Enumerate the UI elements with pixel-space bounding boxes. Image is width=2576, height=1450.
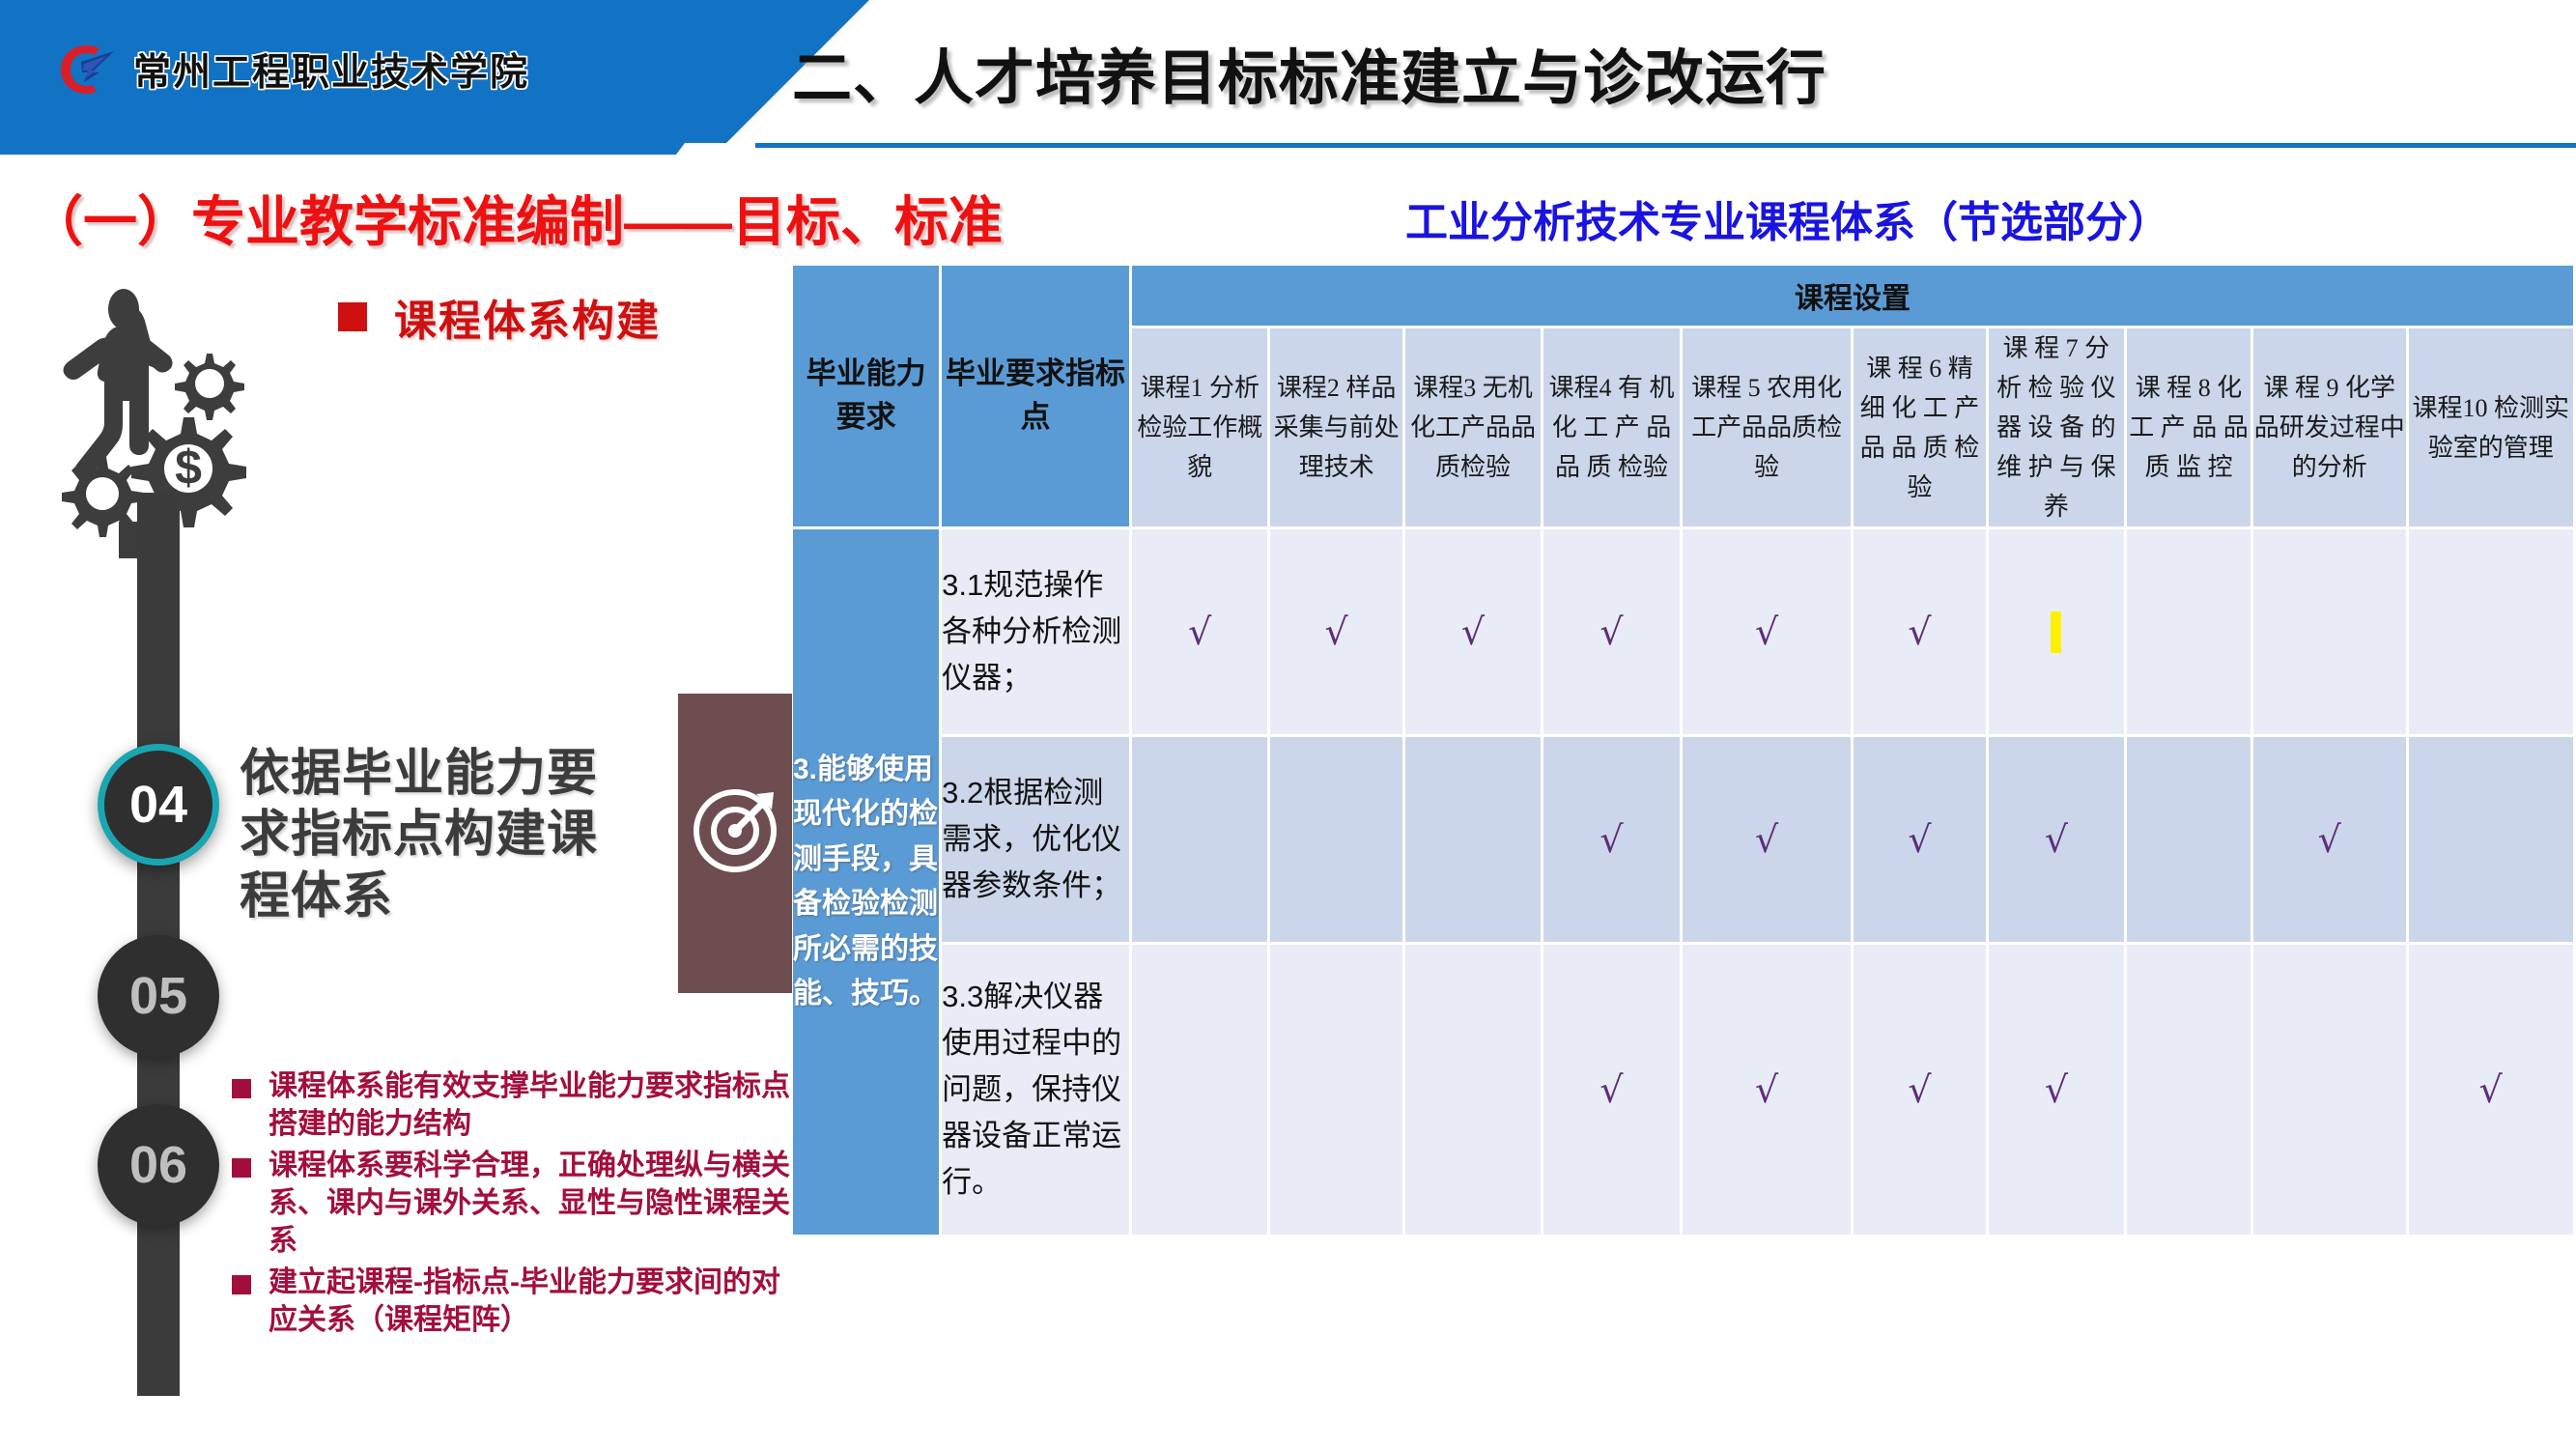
cell-mark-r1c4: √ xyxy=(1543,529,1680,734)
check-icon: √ xyxy=(1461,611,1485,653)
step-node-06[interactable]: 06 xyxy=(98,1104,219,1226)
section-subtitle-red: （一）专业教学标准编制——目标、标准 xyxy=(29,179,1003,257)
cell-mark-r1c6: √ xyxy=(1854,529,1985,734)
cell-mark-r3c10: √ xyxy=(2409,945,2574,1235)
cell-mark-r3c1 xyxy=(1132,945,1268,1235)
col-header-course-group: 课程设置 xyxy=(1132,266,2573,326)
step-node-05[interactable]: 05 xyxy=(98,935,219,1057)
cell-mark-r2c9: √ xyxy=(2253,737,2406,942)
cell-mark-r1c2: √ xyxy=(1270,529,1401,734)
check-icon: √ xyxy=(2479,1068,2503,1111)
course-matrix-table: 毕业能力要求 毕业要求指标点 课程设置 课程1 分析检验工作概貌 课程2 样品采… xyxy=(790,263,2576,1237)
table-row: 3.能够使用现代化的检测手段，具备检验检测所必需的技能、技巧。 3.1规范操作各… xyxy=(793,529,2573,734)
table-header-group-row: 毕业能力要求 毕业要求指标点 课程设置 xyxy=(793,266,2573,326)
check-icon: √ xyxy=(1324,611,1347,653)
col-header-course-5: 课程 5 农用化工产品品质检验 xyxy=(1683,328,1852,526)
list-item: 课程体系要科学合理，正确处理纵与横关系、课内与课外关系、显性与隐性课程关系 xyxy=(232,1147,792,1260)
check-icon: √ xyxy=(1908,1068,1931,1111)
university-logo: 常州工程职业技术学院 xyxy=(58,43,529,97)
check-icon: √ xyxy=(1188,611,1211,653)
col-header-course-9: 课 程 9 化学品研发过程中的分析 xyxy=(2253,328,2406,526)
check-icon: √ xyxy=(1599,1068,1623,1111)
cell-mark-r1c7 xyxy=(1989,529,2125,734)
table-row: 3.3解决仪器使用过程中的问题，保持仪器设备正常运行。 √ √ √ √ √ xyxy=(793,945,2573,1235)
check-icon: √ xyxy=(1755,1068,1778,1111)
col-header-course-1: 课程1 分析检验工作概貌 xyxy=(1132,328,1268,526)
square-bullet-icon xyxy=(232,1079,251,1098)
cell-indicator-3-1: 3.1规范操作各种分析检测仪器； xyxy=(942,529,1129,734)
col-header-course-8: 课 程 8 化 工 产 品 品 质 监 控 xyxy=(2127,328,2250,526)
cell-indicator-3-2: 3.2根据检测需求，优化仪器参数条件； xyxy=(942,737,1129,942)
square-bullet-icon xyxy=(338,302,367,331)
cell-mark-r3c9 xyxy=(2253,945,2406,1235)
table-row: 3.2根据检测需求，优化仪器参数条件； √ √ √ √ √ xyxy=(793,737,2573,942)
col-header-course-4: 课程4 有 机 化 工 产 品 品 质 检验 xyxy=(1543,328,1680,526)
check-icon: √ xyxy=(1908,611,1931,653)
svg-text:$: $ xyxy=(175,441,202,495)
check-icon: √ xyxy=(1599,818,1623,861)
course-system-label-text: 课程体系构建 xyxy=(394,286,661,348)
col-header-indicator: 毕业要求指标点 xyxy=(942,266,1129,526)
bullet-list: 课程体系能有效支撑毕业能力要求指标点搭建的能力结构 课程体系要科学合理，正确处理… xyxy=(232,1067,792,1343)
target-plaque xyxy=(678,694,792,993)
list-item: 建立起课程-指标点-毕业能力要求间的对应关系（课程矩阵） xyxy=(232,1264,792,1339)
check-icon: √ xyxy=(2045,818,2068,861)
cell-mark-r3c6: √ xyxy=(1854,945,1985,1235)
cell-mark-r1c5: √ xyxy=(1683,529,1852,734)
col-header-course-6: 课 程 6 精 细 化 工 产 品 品 质 检验 xyxy=(1854,328,1985,526)
cell-indicator-3-3: 3.3解决仪器使用过程中的问题，保持仪器设备正常运行。 xyxy=(942,945,1129,1235)
cell-mark-r3c3 xyxy=(1405,945,1542,1235)
header-underline xyxy=(755,143,2576,148)
course-system-label: 课程体系构建 xyxy=(338,286,661,348)
cell-mark-r2c1 xyxy=(1132,737,1268,942)
col-header-course-2: 课程2 样品采集与前处理技术 xyxy=(1270,328,1401,526)
cell-mark-r3c4: √ xyxy=(1543,945,1680,1235)
cell-mark-r3c5: √ xyxy=(1683,945,1852,1235)
cell-mark-r3c8 xyxy=(2127,945,2250,1235)
col-header-course-10: 课程10 检测实验室的管理 xyxy=(2409,328,2574,526)
cell-ability-requirement: 3.能够使用现代化的检测手段，具备检验检测所必需的技能、技巧。 xyxy=(793,529,939,1235)
cell-mark-r2c4: √ xyxy=(1543,737,1680,942)
check-icon: √ xyxy=(2045,1068,2068,1111)
cell-mark-r2c7: √ xyxy=(1989,737,2125,942)
check-icon: √ xyxy=(1755,818,1778,861)
col-header-course-3: 课程3 无机化工产品品质检验 xyxy=(1405,328,1542,526)
university-emblem-icon xyxy=(58,43,118,97)
cell-mark-r2c10 xyxy=(2409,737,2574,942)
step-node-06-number: 06 xyxy=(129,1135,187,1195)
target-bullseye-icon xyxy=(693,788,778,873)
cell-mark-r3c7: √ xyxy=(1989,945,2125,1235)
step-node-04[interactable]: 04 xyxy=(98,744,219,866)
table-caption-blue: 工业分析技术专业课程体系（节选部分） xyxy=(1405,187,2170,249)
cell-mark-r2c2 xyxy=(1270,737,1401,942)
cell-mark-r1c10 xyxy=(2409,529,2574,734)
bullet-text: 课程体系能有效支撑毕业能力要求指标点搭建的能力结构 xyxy=(269,1067,792,1143)
cell-mark-r2c6: √ xyxy=(1854,737,1985,942)
step-node-05-number: 05 xyxy=(129,966,187,1026)
page-title: 二、人才培养目标标准建立与诊改运行 xyxy=(792,29,2492,116)
cell-mark-r2c8 xyxy=(2127,737,2250,942)
active-step-title: 依据毕业能力要求指标点构建课程体系 xyxy=(240,744,645,927)
cell-mark-r1c9 xyxy=(2253,529,2406,734)
cell-mark-r3c2 xyxy=(1270,945,1401,1235)
bullet-text: 建立起课程-指标点-毕业能力要求间的对应关系（课程矩阵） xyxy=(269,1264,792,1339)
list-item: 课程体系能有效支撑毕业能力要求指标点搭建的能力结构 xyxy=(232,1067,792,1143)
highlight-marker-icon xyxy=(2051,611,2061,653)
cell-mark-r2c5: √ xyxy=(1683,737,1852,942)
cell-mark-r1c8 xyxy=(2127,529,2250,734)
cell-mark-r2c3 xyxy=(1405,737,1542,942)
square-bullet-icon xyxy=(232,1158,251,1178)
check-icon: √ xyxy=(1755,611,1778,653)
university-logo-text: 常州工程职业技术学院 xyxy=(133,43,529,97)
square-bullet-icon xyxy=(232,1275,251,1294)
cell-mark-r1c3: √ xyxy=(1405,529,1542,734)
col-header-ability: 毕业能力要求 xyxy=(793,266,939,526)
col-header-course-7: 课 程 7 分 析 检 验 仪 器 设 备 的 维 护 与 保 养 xyxy=(1989,328,2125,526)
bullet-text: 课程体系要科学合理，正确处理纵与横关系、课内与课外关系、显性与隐性课程关系 xyxy=(269,1147,792,1260)
slide-canvas: 常州工程职业技术学院 二、人才培养目标标准建立与诊改运行 （一）专业教学标准编制… xyxy=(0,0,2576,1450)
check-icon: √ xyxy=(1908,818,1931,861)
cell-mark-r1c1: √ xyxy=(1132,529,1268,734)
check-icon: √ xyxy=(1599,611,1623,653)
check-icon: √ xyxy=(2318,818,2341,861)
step-node-04-number: 04 xyxy=(129,775,187,835)
